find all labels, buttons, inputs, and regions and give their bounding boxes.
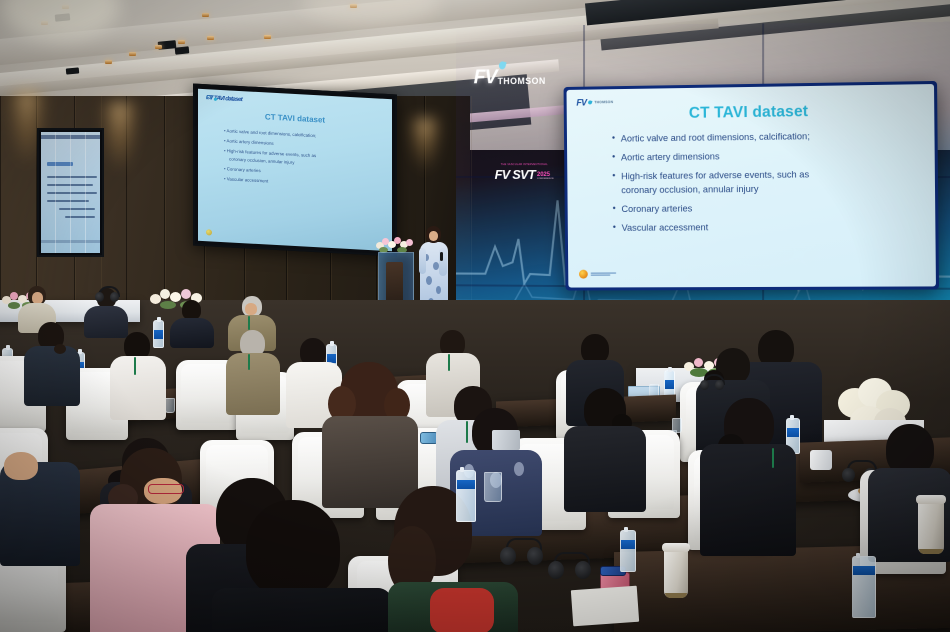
ceiling-spotlight xyxy=(207,36,214,40)
slide-title: CT TAVI dataset xyxy=(567,101,935,124)
society-seal-icon xyxy=(579,270,588,279)
attendee xyxy=(0,452,80,562)
translation-headset xyxy=(548,552,592,580)
slide-bullet: Aortic valve and root dimensions, calcif… xyxy=(612,129,912,146)
leaf-icon xyxy=(588,100,593,105)
fv-logo-mark: FV xyxy=(474,67,497,87)
event-logo-sub: CONFERENCE xyxy=(537,178,554,180)
water-bottle xyxy=(852,556,876,618)
leaf-icon xyxy=(498,61,506,70)
ceiling-spotlight xyxy=(105,60,112,64)
coffee-tumbler xyxy=(918,500,944,554)
translation-headset xyxy=(700,374,724,390)
projection-screen: CT TAVI dataset FV CT TAVI dataset • Aor… xyxy=(193,83,397,256)
attendee xyxy=(212,500,392,632)
slide-bullet: Coronary arteries xyxy=(613,200,913,216)
fv-thomson-logo: FV THOMSON xyxy=(474,67,546,87)
ceiling-spotlight xyxy=(155,45,162,49)
water-bottle xyxy=(620,530,636,572)
side-display xyxy=(37,128,104,257)
handheld-microphone xyxy=(440,252,443,261)
translation-headset xyxy=(500,538,544,566)
slide-bullet: Aortic artery dimensions xyxy=(612,148,912,165)
ceiling-spotlight xyxy=(129,52,136,56)
eyeglasses xyxy=(148,484,184,494)
attendee xyxy=(322,362,418,502)
conference-hall-photo: CT TAVI dataset FV CT TAVI dataset • Aor… xyxy=(0,0,950,632)
projection-footer-seal-icon xyxy=(206,229,212,235)
attendee-scarf xyxy=(430,588,494,632)
presenter-face xyxy=(429,231,438,241)
slide-footer xyxy=(579,270,616,279)
slide-logo-thomson: THOMSON xyxy=(594,100,613,104)
presenter-arm xyxy=(419,248,426,274)
napkin xyxy=(571,586,639,627)
attendee xyxy=(110,332,166,414)
event-logo: THE VASCULAR INTERVENTIONAL FV SVT 2025 … xyxy=(479,164,569,180)
attendee xyxy=(388,486,518,632)
attendee xyxy=(170,300,214,344)
coffee-tumbler xyxy=(664,548,688,598)
drinking-glass xyxy=(484,472,502,502)
attendee xyxy=(24,322,80,400)
water-bottle xyxy=(456,470,476,522)
presentation-slide: FV THOMSON CT TAVI dataset Aortic valve … xyxy=(564,81,940,291)
slide-bullet: High-risk features for adverse events, s… xyxy=(612,168,912,197)
attendee xyxy=(84,288,128,334)
ceiling-spotlight xyxy=(202,13,209,17)
attendee xyxy=(700,398,796,548)
event-logo-mark: FV SVT xyxy=(495,168,535,181)
slide-bullet-list: Aortic valve and root dimensions, calcif… xyxy=(612,129,913,241)
projection-slide-title: CT TAVI dataset xyxy=(198,109,392,129)
tablet-device xyxy=(492,430,520,450)
slide-bullet: Vascular accessment xyxy=(613,220,913,235)
ceiling-spotlight xyxy=(178,40,185,44)
coffee-cup xyxy=(810,450,832,470)
ceiling-spotlight xyxy=(264,35,271,39)
fv-logo-wordmark: THOMSON xyxy=(498,77,546,86)
projection-slide-logo: FV xyxy=(206,95,216,102)
attendee xyxy=(226,330,280,410)
drinking-glass xyxy=(165,398,175,413)
translation-headset xyxy=(95,286,119,302)
attendee xyxy=(564,388,646,506)
